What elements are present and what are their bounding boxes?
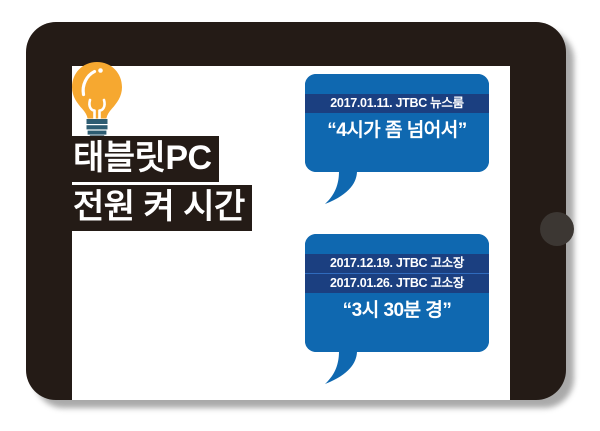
speech-bubble-complaint: 2017.12.19. JTBC 고소장 2017.01.26. JTBC 고소…	[305, 234, 489, 352]
title-line-2: 전원 켜 시간	[66, 185, 252, 231]
date-source-line: 2017.12.19. JTBC 고소장	[305, 254, 489, 273]
bubble-tail-icon	[323, 171, 367, 205]
date-source-line: 2017.01.11. JTBC 뉴스룸	[305, 94, 489, 113]
bubble-bottom-spacer	[305, 326, 489, 352]
speech-bubble-body: 2017.01.11. JTBC 뉴스룸 “4시가 좀 넘어서”	[305, 74, 489, 172]
bubble-top-spacer	[305, 74, 489, 94]
infographic-slide: 태블릿PC 전원 켜 시간 2017.01.11. JTBC 뉴스룸 “4시가 …	[0, 0, 600, 431]
bubble-tail-icon	[323, 351, 367, 385]
title-line-1: 태블릿PC	[66, 136, 219, 182]
speech-bubble-newsroom: 2017.01.11. JTBC 뉴스룸 “4시가 좀 넘어서”	[305, 74, 489, 172]
quote-text: “4시가 좀 넘어서”	[305, 113, 489, 146]
quote-text: “3시 30분 경”	[305, 293, 489, 326]
bubble-bottom-spacer	[305, 146, 489, 172]
date-source-line: 2017.01.26. JTBC 고소장	[305, 273, 489, 293]
page-title: 태블릿PC 전원 켜 시간	[66, 136, 252, 231]
lightbulb-icon	[68, 60, 126, 144]
speech-bubble-body: 2017.12.19. JTBC 고소장 2017.01.26. JTBC 고소…	[305, 234, 489, 352]
home-button[interactable]	[540, 212, 574, 246]
bubble-top-spacer	[305, 234, 489, 254]
